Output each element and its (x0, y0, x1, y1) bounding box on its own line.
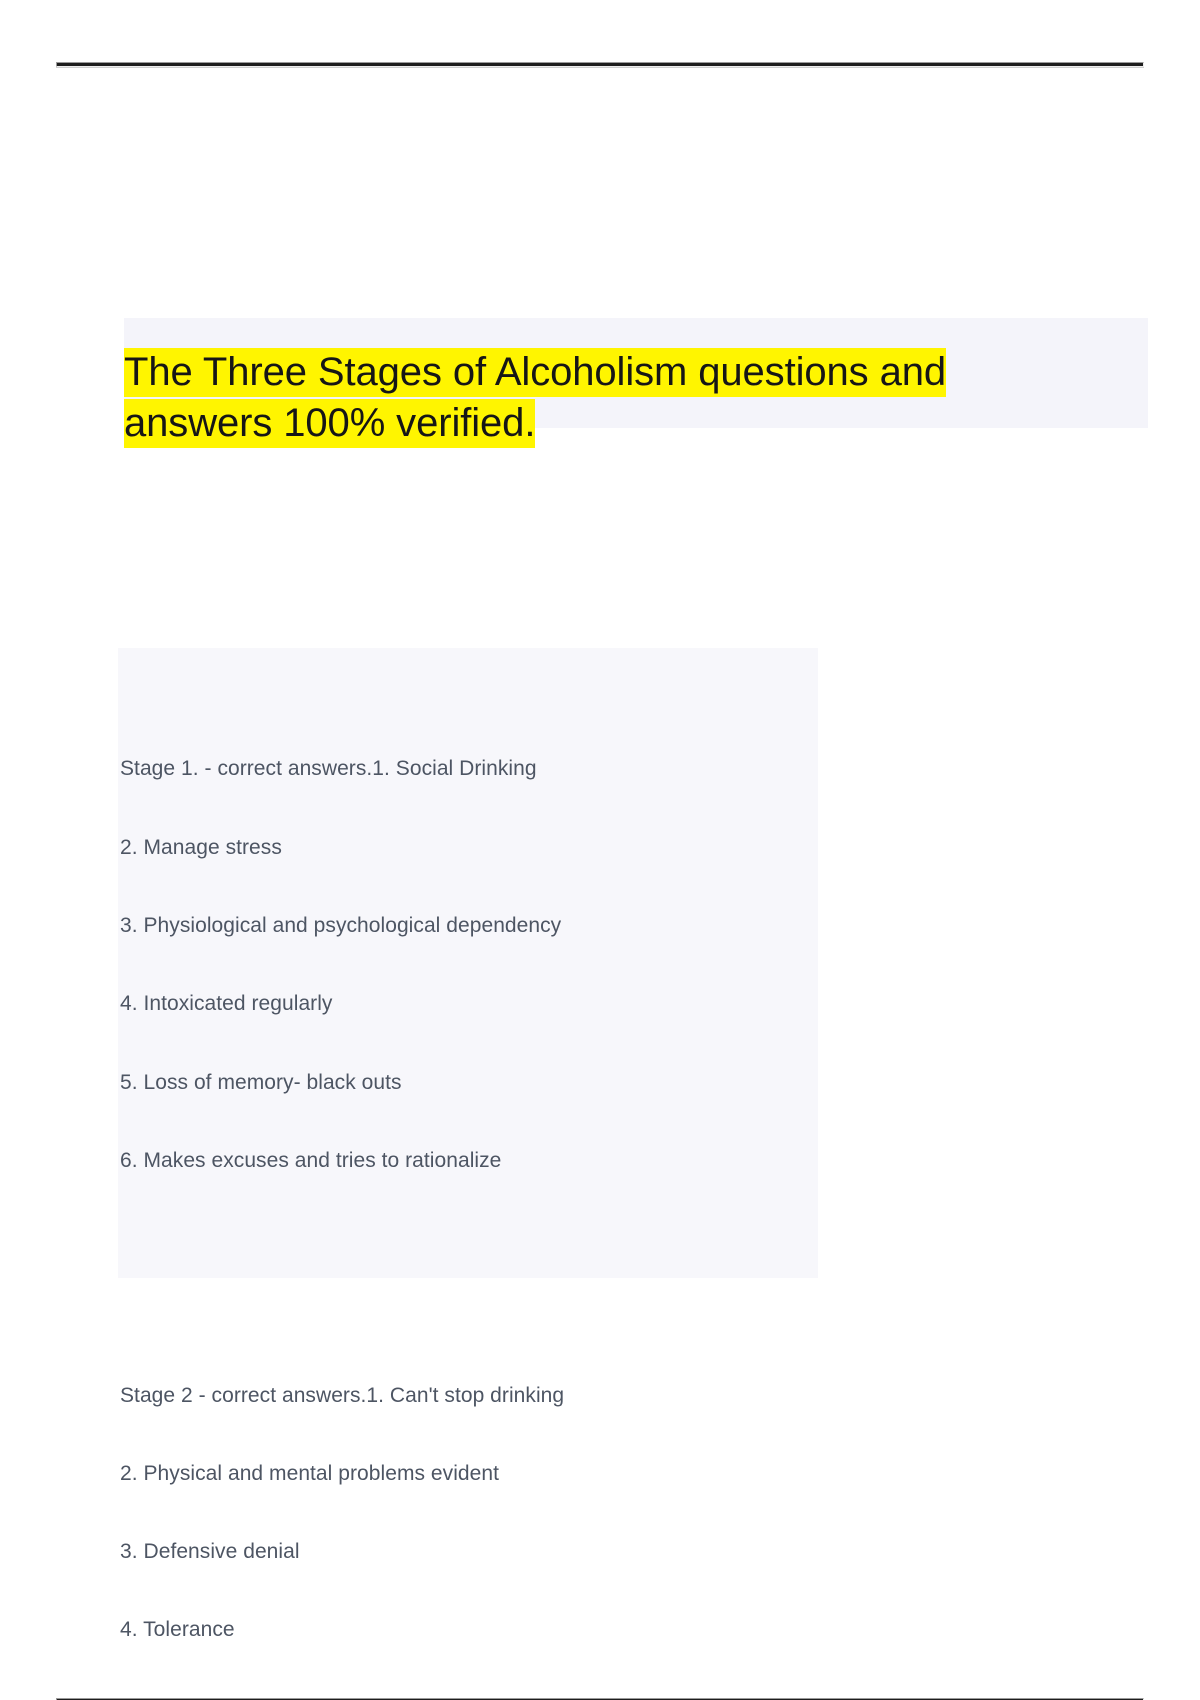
page-top-rule (56, 62, 1144, 67)
answer-line: 5. Loss of memory- black outs (120, 1070, 1020, 1096)
answer-line: 4. Intoxicated regularly (120, 991, 1020, 1017)
answer-line: 3. Defensive denial (120, 1539, 1020, 1565)
answer-section-stage-2: Stage 2 - correct answers.1. Can't stop … (120, 1330, 1020, 1700)
answer-line: Stage 2 - correct answers.1. Can't stop … (120, 1383, 1020, 1409)
answer-line: 4. Tolerance (120, 1617, 1020, 1643)
answer-line: 3. Physiological and psychological depen… (120, 913, 1020, 939)
answer-line: Stage 1. - correct answers.1. Social Dri… (120, 756, 1020, 782)
page-title: The Three Stages of Alcoholism questions… (124, 347, 1064, 449)
page-title-line-2: answers 100% verified. (124, 399, 535, 448)
page-title-line-1: The Three Stages of Alcoholism questions… (124, 348, 946, 397)
answer-section-stage-1: Stage 1. - correct answers.1. Social Dri… (120, 704, 1020, 1226)
answer-line: 2. Physical and mental problems evident (120, 1461, 1020, 1487)
answer-line: 6. Makes excuses and tries to rationaliz… (120, 1148, 1020, 1174)
answers-body: Stage 1. - correct answers.1. Social Dri… (120, 652, 1020, 1700)
document-page: The Three Stages of Alcoholism questions… (0, 0, 1200, 1700)
answer-line: 2. Manage stress (120, 835, 1020, 861)
